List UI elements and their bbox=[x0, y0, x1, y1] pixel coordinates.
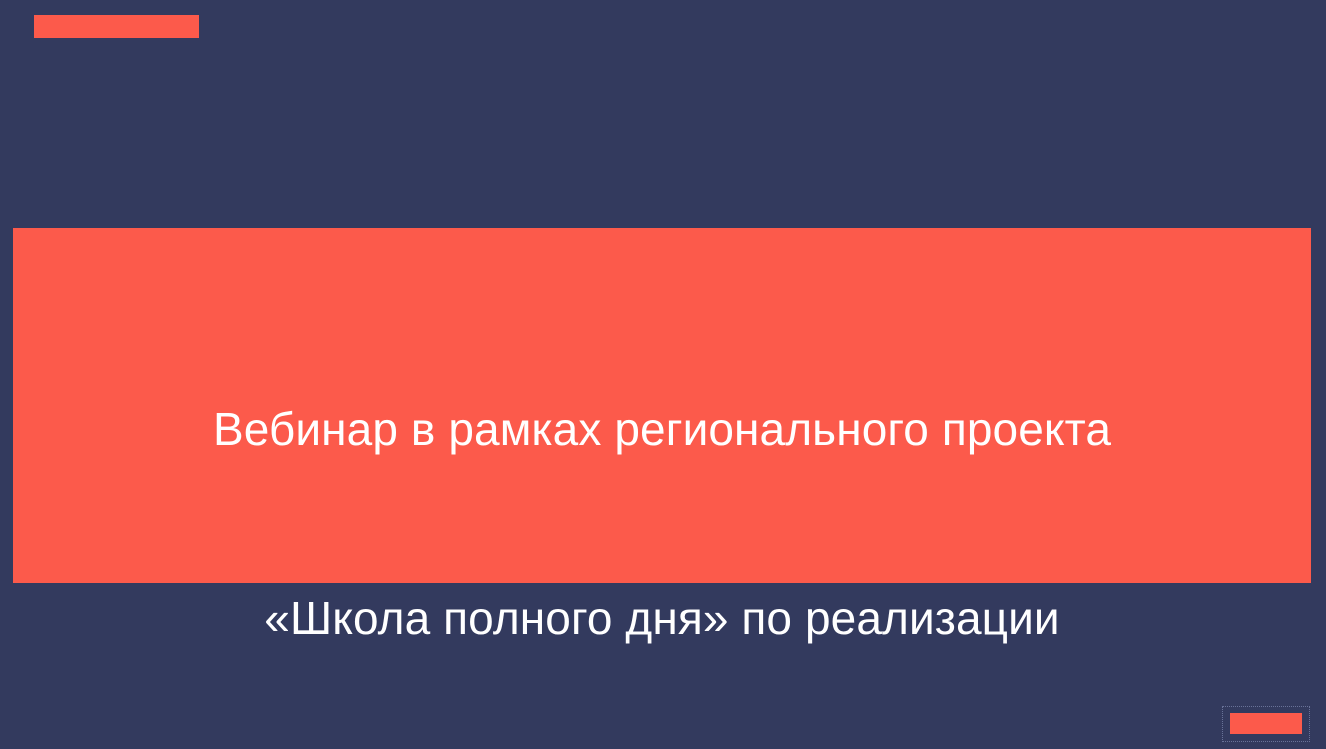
accent-bar-top-left bbox=[34, 15, 199, 38]
presentation-slide: Вебинар в рамках регионального проекта «… bbox=[0, 0, 1326, 749]
title-line-1: Вебинар в рамках регионального проекта bbox=[13, 398, 1311, 461]
title-line-2: «Школа полного дня» по реализации bbox=[13, 587, 1311, 650]
title-panel: Вебинар в рамках регионального проекта «… bbox=[13, 228, 1311, 583]
accent-bar-bottom-right[interactable] bbox=[1230, 713, 1302, 734]
slide-title: Вебинар в рамках регионального проекта «… bbox=[13, 272, 1311, 749]
